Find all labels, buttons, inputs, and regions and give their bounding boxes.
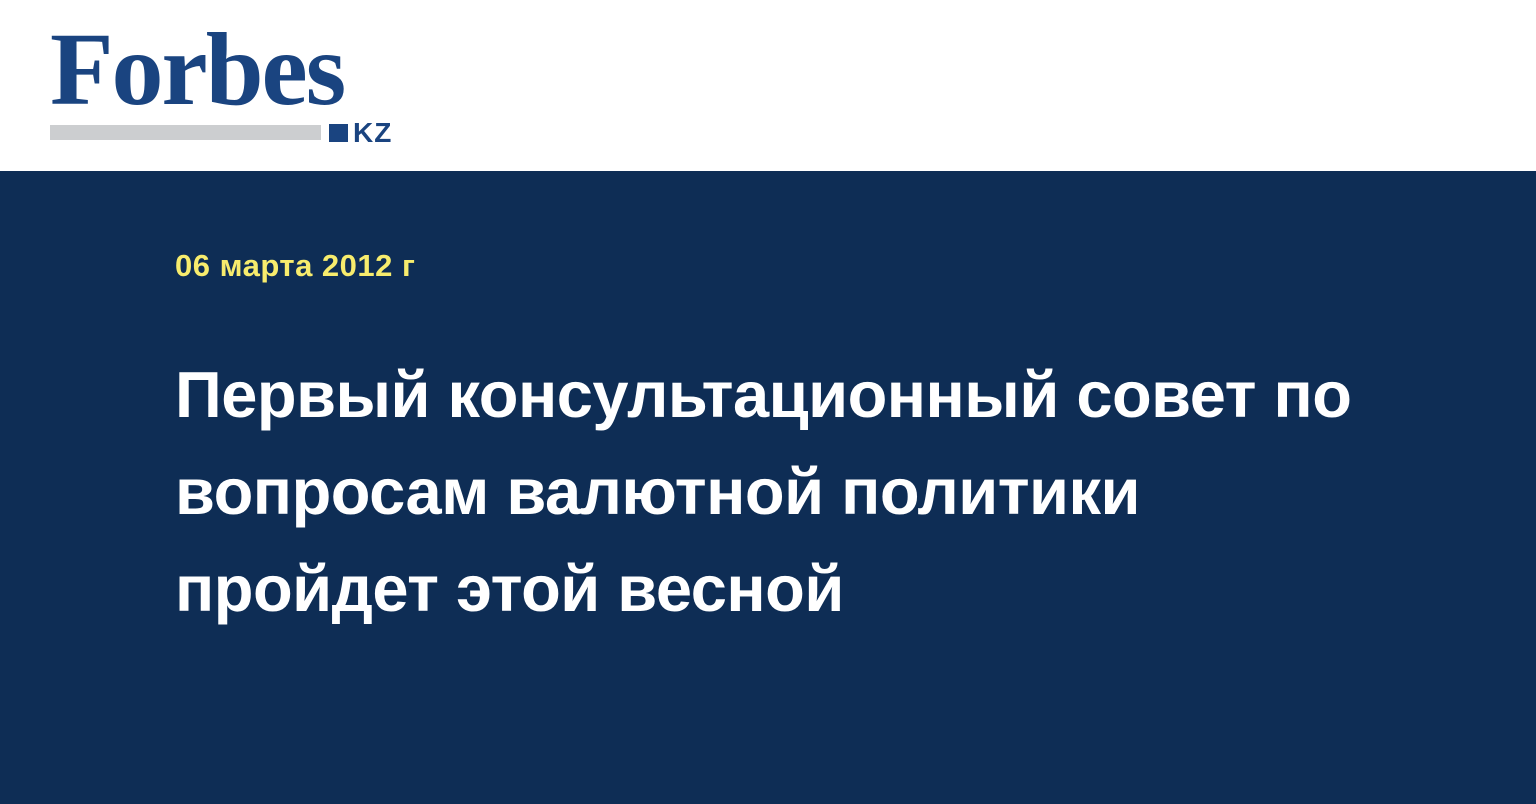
logo-kz-text: KZ [353, 119, 392, 147]
article-hero-page: Forbes KZ 06 марта 2012 г Первый консуль… [0, 0, 1536, 804]
logo-wordmark-text: Forbes [50, 18, 344, 122]
forbes-kz-logo[interactable]: Forbes KZ [50, 18, 410, 146]
article-hero-banner: 06 марта 2012 г Первый консультационный … [0, 171, 1536, 804]
logo-rule-divider [50, 125, 321, 140]
article-headline: Первый консультационный совет по вопроса… [175, 346, 1365, 637]
logo-square-icon [329, 124, 348, 142]
site-header: Forbes KZ [0, 0, 1536, 171]
article-date: 06 марта 2012 г [175, 250, 415, 281]
